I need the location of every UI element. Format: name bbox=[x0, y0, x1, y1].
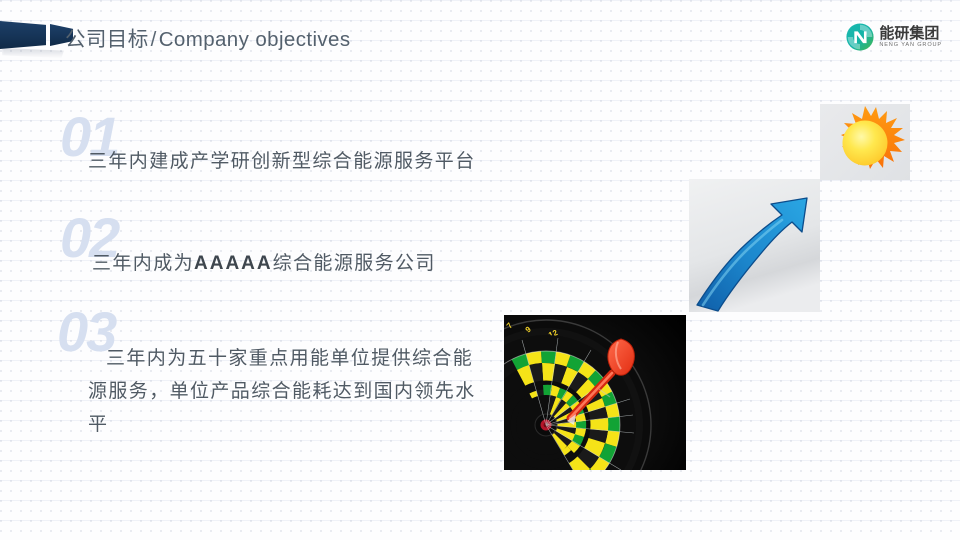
objective-text-02-after: 综合能源服务公司 bbox=[273, 253, 436, 274]
company-logo: 能研集团 NENG YAN GROUP bbox=[846, 22, 942, 52]
page-title-separator: / bbox=[149, 28, 159, 51]
banner-chevron-large bbox=[0, 21, 46, 49]
logo-text-block: 能研集团 NENG YAN GROUP bbox=[879, 26, 942, 49]
logo-name-en: NENG YAN GROUP bbox=[879, 43, 942, 49]
dartboard-photo: 9 12 5 20 1 18 4 7 bbox=[504, 315, 686, 470]
sun-photo bbox=[820, 104, 910, 180]
growth-arrow-photo bbox=[689, 179, 820, 312]
slide-canvas: 公司目标/Company objectives bbox=[0, 0, 960, 540]
page-title: 公司目标/Company objectives bbox=[65, 22, 351, 52]
slide-header: 公司目标/Company objectives bbox=[0, 0, 960, 72]
logo-name-cn: 能研集团 bbox=[879, 26, 942, 41]
header-banner-decoration bbox=[0, 18, 72, 52]
page-title-en: Company objectives bbox=[159, 28, 351, 51]
neng-yan-circular-logo-icon bbox=[846, 23, 874, 51]
objective-text-03: 三年内为五十家重点用能单位提供综合能源服务，单位产品综合能耗达到国内领先水平 bbox=[88, 342, 488, 441]
objective-text-02-emphasis: AAAAA bbox=[194, 253, 273, 274]
objective-text-02-before: 三年内成为 bbox=[92, 253, 194, 274]
page-title-cn: 公司目标 bbox=[65, 28, 149, 51]
objective-text-01: 三年内建成产学研创新型综合能源服务平台 bbox=[88, 146, 476, 173]
banner-shadow bbox=[2, 48, 64, 58]
objective-text-02: 三年内成为AAAAA综合能源服务公司 bbox=[92, 248, 436, 275]
